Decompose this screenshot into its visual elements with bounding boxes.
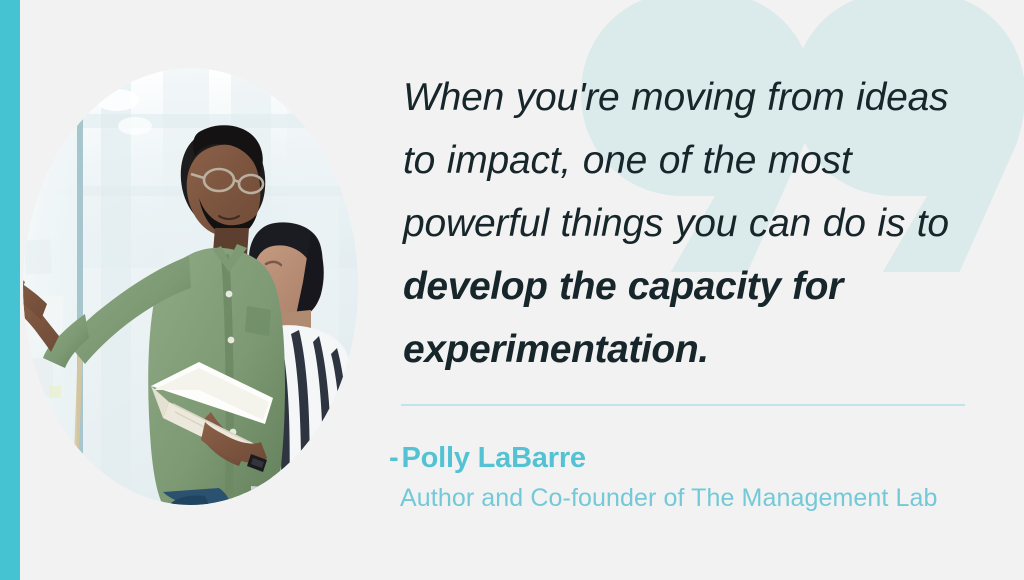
attribution-block: -Polly LaBarre Author and Co-founder of …: [389, 440, 989, 514]
attribution-divider: [401, 404, 965, 406]
author-role: Author and Co-founder of The Management …: [400, 482, 989, 514]
quote-lead-text: When you're moving from ideas to impact,…: [403, 76, 949, 245]
author-name-line: -Polly LaBarre: [389, 440, 989, 476]
quote-text-block: When you're moving from ideas to impact,…: [403, 66, 983, 381]
attribution-dash: -: [389, 442, 398, 474]
quote-emphasis-text: develop the capacity for experimentation…: [403, 265, 843, 371]
quote-card: When you're moving from ideas to impact,…: [0, 0, 1024, 580]
author-name: Polly LaBarre: [401, 442, 585, 474]
left-accent-bar: [0, 0, 20, 580]
author-photo: [23, 68, 358, 505]
quote-paragraph: When you're moving from ideas to impact,…: [403, 66, 983, 381]
